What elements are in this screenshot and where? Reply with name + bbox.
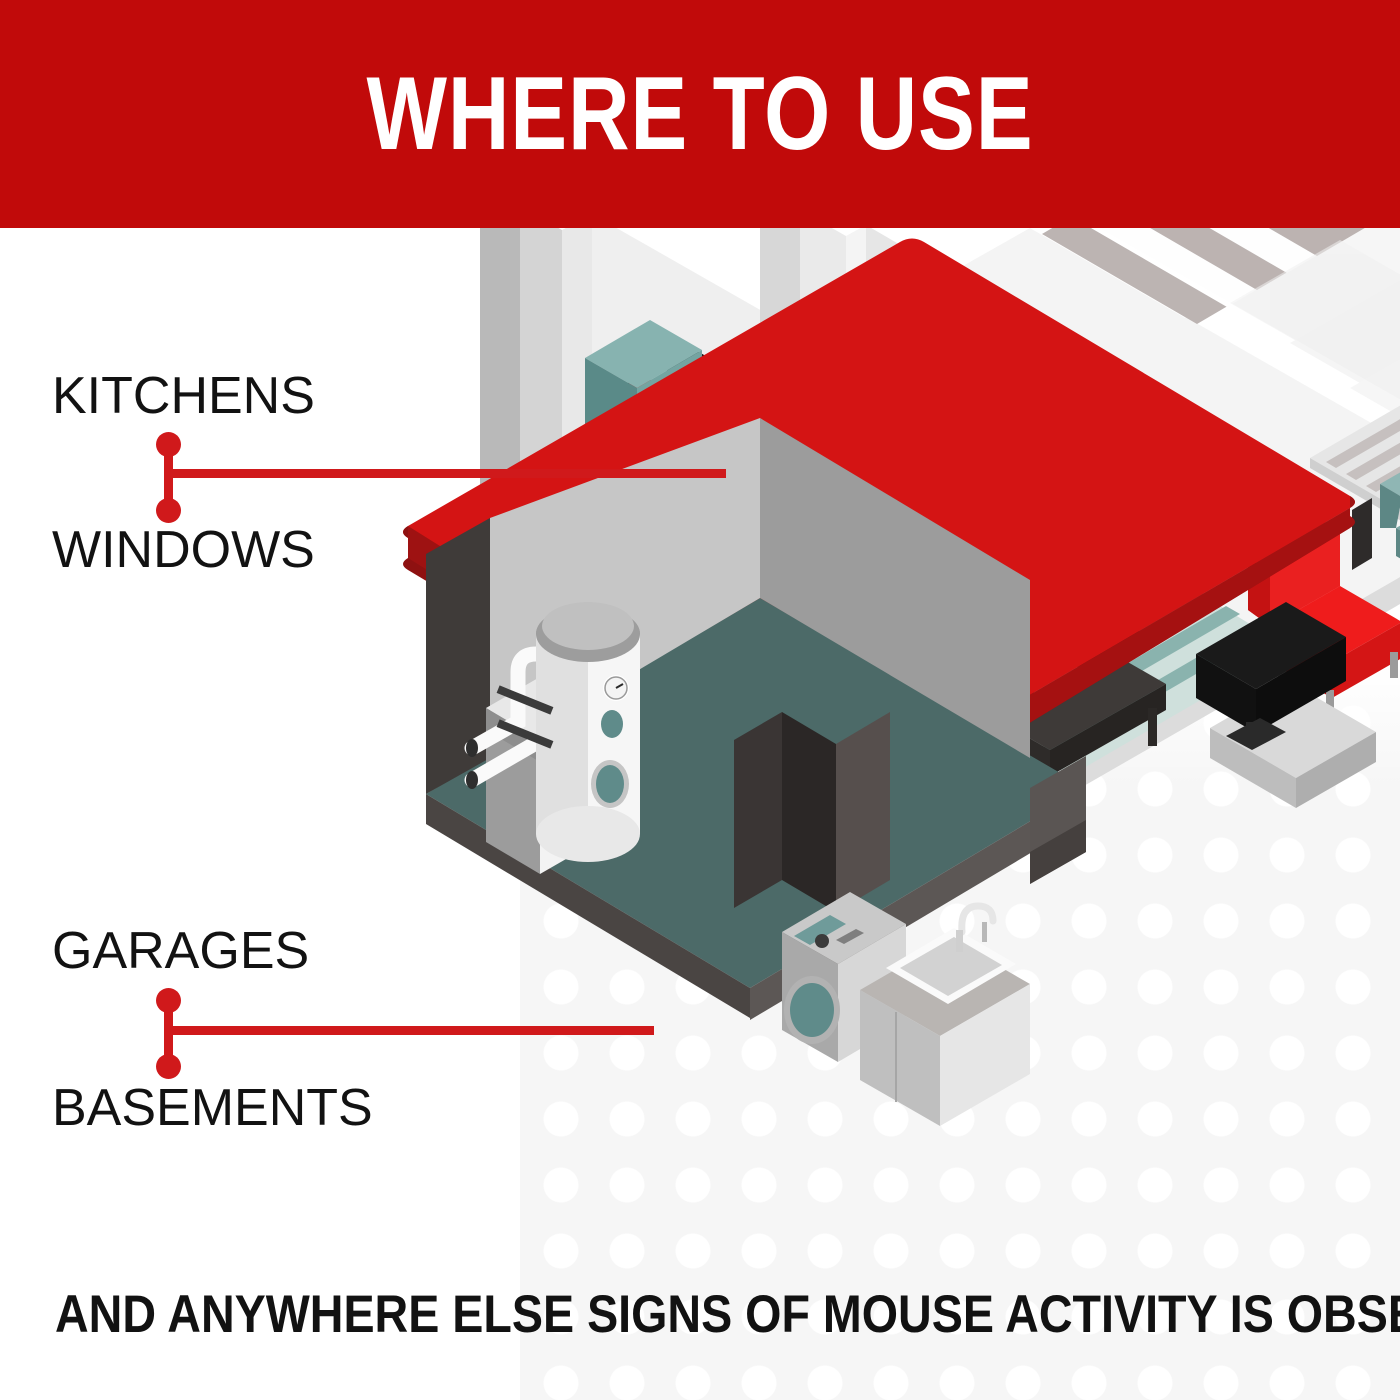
- callout-label-kitchens: KITCHENS: [52, 370, 315, 422]
- callout-label-garages: GARAGES: [52, 925, 309, 977]
- callout-label-basements: BASEMENTS: [52, 1082, 373, 1134]
- callout-leader-line-2: [168, 1026, 654, 1035]
- infographic-root: WHERE TO USE KITCHENS WINDOWS GARAGES BA…: [0, 0, 1400, 1400]
- footer-note: AND ANYWHERE ELSE SIGNS OF MOUSE ACTIVIT…: [55, 1288, 1400, 1341]
- callout-label-windows: WINDOWS: [52, 524, 315, 576]
- page-title: WHERE TO USE: [126, 0, 1274, 228]
- header-banner: WHERE TO USE: [0, 0, 1400, 228]
- callout-dot-windows: [156, 498, 181, 523]
- callout-dot-garages: [156, 988, 181, 1013]
- callout-dot-basements: [156, 1054, 181, 1079]
- callout-dot-kitchens: [156, 432, 181, 457]
- isometric-house-illustration: [330, 228, 1400, 1248]
- callout-leader-line-1: [168, 469, 726, 478]
